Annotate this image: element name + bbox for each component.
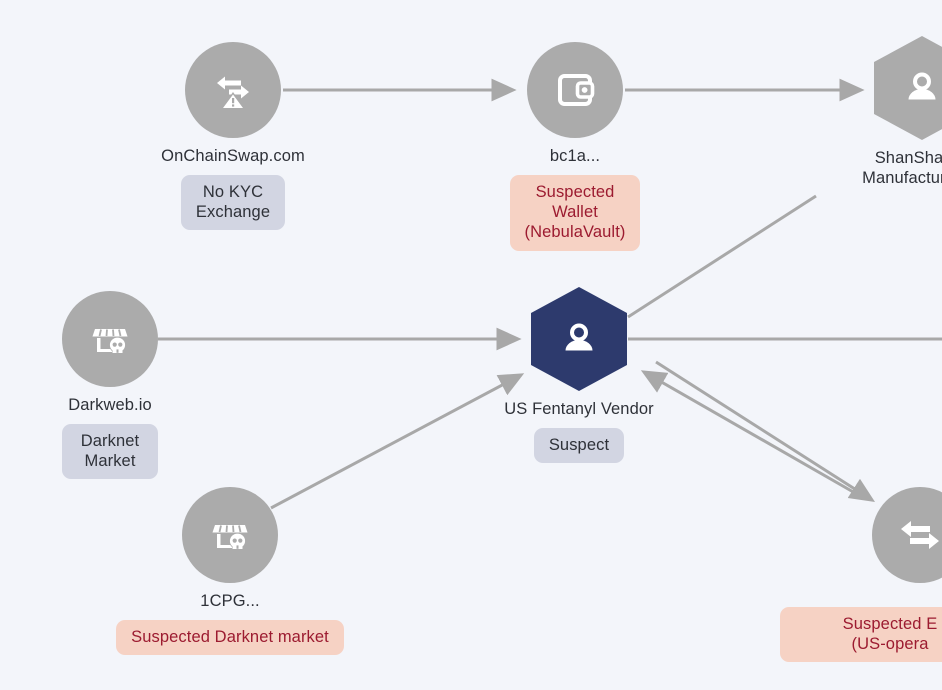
- node-badge: Suspected Darknet market: [116, 620, 344, 655]
- node-badge: Suspect: [534, 428, 624, 463]
- darknet-market-icon: [86, 315, 134, 363]
- darknet-market-icon: [206, 511, 254, 559]
- node-shape-circle[interactable]: [872, 487, 942, 583]
- node-darkweb-io[interactable]: Darkweb.io Darknet Market: [62, 291, 158, 479]
- node-badge: Suspected E (US-opera: [780, 607, 942, 662]
- node-shape-hexagon[interactable]: [531, 287, 627, 391]
- node-shape-circle[interactable]: [185, 42, 281, 138]
- node-label: OnChainSwap.com: [161, 146, 305, 166]
- node-label: 1CPG...: [200, 591, 259, 611]
- node-bc1a-wallet[interactable]: bc1a... Suspected Wallet (NebulaVault): [527, 42, 623, 251]
- node-shape-circle[interactable]: [527, 42, 623, 138]
- node-suspected-exchange[interactable]: Suspected E (US-opera: [872, 487, 942, 662]
- node-shape-hexagon[interactable]: [874, 36, 942, 140]
- node-label: ShanShan C Manufacturer (A: [832, 148, 942, 188]
- node-onchainswap[interactable]: OnChainSwap.com No KYC Exchange: [185, 42, 281, 230]
- node-shape-circle[interactable]: [62, 291, 158, 387]
- edge-exchange-to-vendor: [644, 372, 862, 497]
- node-badge: Darknet Market: [62, 424, 158, 479]
- edge-1cpg-to-vendor: [271, 375, 521, 508]
- person-icon: [900, 66, 942, 110]
- node-shanshan-manufacturer[interactable]: ShanShan C Manufacturer (A: [874, 36, 942, 188]
- node-label: Darkweb.io: [68, 395, 152, 415]
- node-shape-circle[interactable]: [182, 487, 278, 583]
- exchange-warning-icon: [207, 64, 259, 116]
- graph-canvas[interactable]: OnChainSwap.com No KYC Exchange bc1a... …: [0, 0, 942, 690]
- node-badge: Suspected Wallet (NebulaVault): [510, 175, 641, 250]
- node-badge: No KYC Exchange: [181, 175, 285, 230]
- node-1cpg-market[interactable]: 1CPG... Suspected Darknet market: [182, 487, 278, 655]
- wallet-icon: [552, 67, 598, 113]
- node-label: bc1a...: [550, 146, 600, 166]
- edge-vendor-to-exchange: [656, 362, 872, 500]
- node-us-fentanyl-vendor[interactable]: US Fentanyl Vendor Suspect: [531, 287, 627, 463]
- person-icon: [557, 317, 601, 361]
- exchange-icon: [892, 507, 942, 563]
- node-label: US Fentanyl Vendor: [504, 399, 653, 419]
- edge-vendor-to-shanshan: [628, 196, 816, 317]
